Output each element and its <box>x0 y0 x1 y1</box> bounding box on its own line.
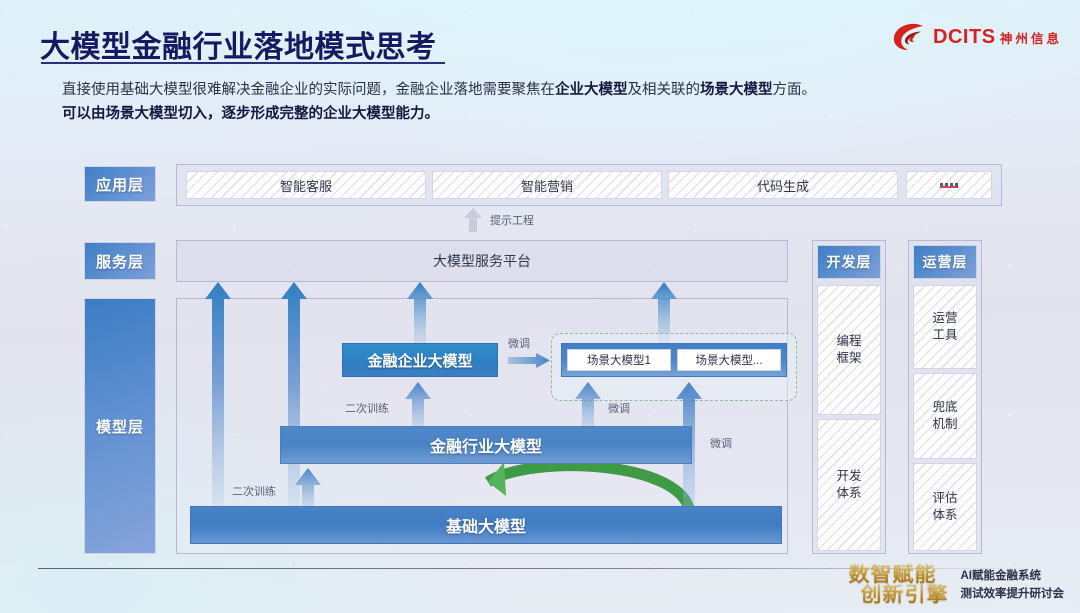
label-retrain-lower: 二次训练 <box>232 483 276 499</box>
ops-item-operations-tools: 运营 工具 <box>913 285 977 369</box>
ops-layer-column: 运营层 运营 工具 兜底 机制 评估 体系 <box>908 240 982 554</box>
label-finetune-ent-to-scene: 微调 <box>508 335 530 351</box>
up-arrow-industry-to-enterprise <box>405 382 431 428</box>
event-gold-logo: 数智赋能 创新引擎 <box>849 565 949 605</box>
enterprise-model-box: 金融企业大模型 <box>342 343 498 377</box>
app-box-intelligent-marketing: 智能营销 <box>432 171 662 199</box>
slide-header: 大模型金融行业落地模式思考 直接使用基础大模型很难解决金融企业的实际问题，金融企… <box>0 0 1080 140</box>
footer-branding: 数智赋能 创新引擎 AI赋能金融系统 测试效率提升研讨会 <box>849 565 1065 605</box>
logo-en-text: DCITS <box>933 26 996 48</box>
ops-item-0-line2: 工具 <box>932 327 957 344</box>
event-name-line1: AI赋能金融系统 <box>961 567 1065 585</box>
dev-item-programming-framework: 编程 框架 <box>817 285 881 415</box>
dev-item-1-line1: 开发 <box>836 468 861 485</box>
prompt-engineering-label: 提示工程 <box>490 212 534 228</box>
logo-wordmark: DCITS 神州信息 <box>933 27 1062 47</box>
industry-model-box: 金融行业大模型 <box>280 426 692 464</box>
up-arrow-base-to-industry <box>295 468 321 506</box>
label-retrain-upper: 二次训练 <box>345 400 389 416</box>
architecture-diagram: 应用层 服务层 模型层 智能客服 智能营销 代码生成 提示工程 大模型服务平台 <box>0 150 1080 562</box>
app-box-intelligent-service: 智能客服 <box>186 171 426 199</box>
subtitle-line-2: 可以由场景大模型切入，逐步形成完整的企业大模型能力。 <box>62 102 1022 126</box>
label-finetune-right: 微调 <box>710 435 732 451</box>
logo-cn-text: 神州信息 <box>1000 32 1062 46</box>
up-arrow-base-to-service <box>205 282 231 506</box>
finetune-right-arrow-icon <box>508 353 550 368</box>
ops-item-2-line1: 评估 <box>932 490 957 507</box>
subtitle-seg-a: 直接使用基础大模型很难解决金融企业的实际问题，金融企业落地需要聚焦在 <box>62 82 555 98</box>
dev-item-1-line2: 体系 <box>836 485 861 502</box>
app-box-more-ellipsis <box>906 171 992 199</box>
dcits-logo: DCITS 神州信息 <box>892 22 1062 52</box>
label-finetune-scene-bottom: 微调 <box>608 400 630 416</box>
subtitle-emph-scene: 场景大模型 <box>700 82 773 98</box>
prompt-engineering-arrow-icon <box>464 208 482 232</box>
gold-logo-line2: 创新引擎 <box>861 585 949 605</box>
subtitle-line-1: 直接使用基础大模型很难解决金融企业的实际问题，金融企业落地需要聚焦在企业大模型及… <box>62 78 1022 102</box>
layer-label-application: 应用层 <box>84 166 156 202</box>
dev-item-0-line2: 框架 <box>836 350 861 367</box>
dev-item-development-system: 开发 体系 <box>817 419 881 551</box>
layer-label-model: 模型层 <box>84 298 156 554</box>
subtitle-seg-c: 及相关联的 <box>628 82 701 98</box>
ops-item-fallback-mechanism: 兜底 机制 <box>913 373 977 459</box>
page-title: 大模型金融行业落地模式思考 <box>40 22 437 66</box>
scene-model-chip-2: 场景大模型... <box>677 349 781 371</box>
slide-subtitle: 直接使用基础大模型很难解决金融企业的实际问题，金融企业落地需要聚焦在企业大模型及… <box>62 78 1022 126</box>
up-arrow-enterprise-to-service <box>407 282 433 344</box>
subtitle-emph-enterprise: 企业大模型 <box>555 82 628 98</box>
event-name: AI赋能金融系统 测试效率提升研讨会 <box>961 567 1065 603</box>
scene-model-chip-1: 场景大模型1 <box>567 349 671 371</box>
base-model-box: 基础大模型 <box>190 506 782 544</box>
ops-item-evaluation-system: 评估 体系 <box>913 463 977 551</box>
service-platform-label: 大模型服务平台 <box>176 240 788 282</box>
ops-item-1-line2: 机制 <box>932 416 957 433</box>
app-box-code-generation: 代码生成 <box>668 171 898 199</box>
dev-layer-header: 开发层 <box>817 245 881 279</box>
title-underline <box>41 62 445 64</box>
ops-item-1-line1: 兜底 <box>932 399 957 416</box>
event-name-line2: 测试效率提升研讨会 <box>961 585 1065 603</box>
ops-layer-header: 运营层 <box>913 245 977 279</box>
layer-label-service: 服务层 <box>84 242 156 280</box>
gold-logo-line1: 数智赋能 <box>849 565 949 585</box>
up-arrow-industry-to-scene <box>575 382 601 428</box>
ellipsis-icon <box>940 183 958 188</box>
dcits-swirl-icon <box>892 22 926 52</box>
ops-item-0-line1: 运营 <box>932 310 957 327</box>
ops-item-2-line2: 体系 <box>932 507 957 524</box>
subtitle-seg-e: 方面。 <box>773 82 817 98</box>
dev-item-0-line1: 编程 <box>836 333 861 350</box>
dev-layer-column: 开发层 编程 框架 开发 体系 <box>812 240 886 554</box>
scene-model-group: 场景大模型1 场景大模型... <box>561 343 787 377</box>
